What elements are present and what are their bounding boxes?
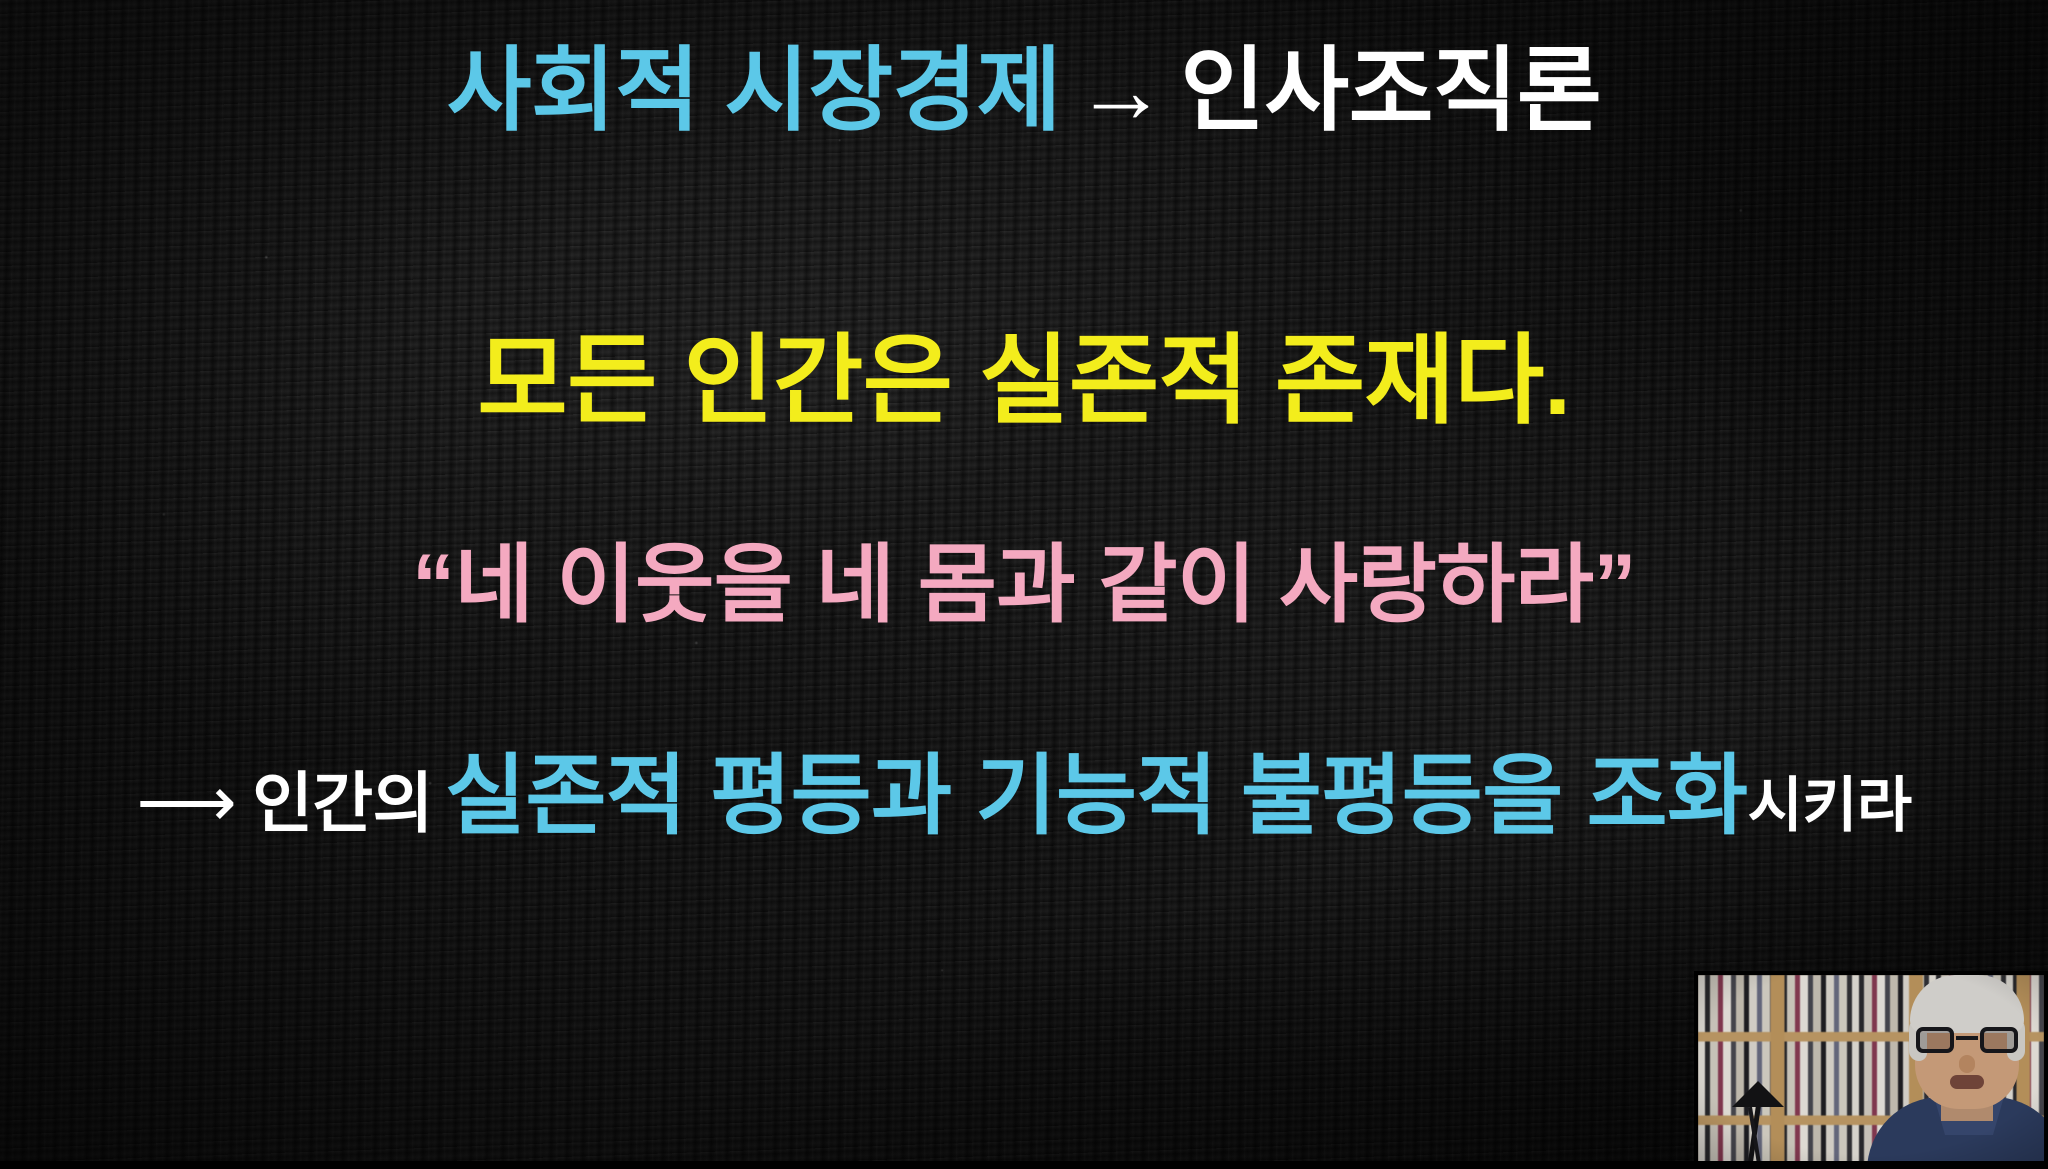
conclusion-line: ⟶인간의실존적 평등과 기능적 불평등을 조화시키라 [0,752,2048,840]
statement-line: 모든 인간은 실존적 존재다. [0,331,2048,429]
glasses-bridge [1956,1036,1978,1040]
webcam-frame [1698,975,2044,1165]
arrow-long-right-icon: ⟶ [136,767,252,837]
lecture-slide: 사회적 시장경제→인사조직론 모든 인간은 실존적 존재다. “네 이웃을 네 … [0,0,2048,1169]
player-bottom-band [0,1161,2048,1169]
presenter-figure [1869,997,2044,1165]
glasses-lens-right [1980,1027,2018,1053]
quote-line: “네 이웃을 네 몸과 같이 사랑하라” [0,542,2048,628]
presenter-mouth [1950,1075,1984,1089]
conclusion-suffix: 시키라 [1748,776,1912,836]
presenter-nose [1959,1055,1975,1073]
glasses-lens-left [1916,1027,1954,1053]
conclusion-emphasis: 실존적 평등과 기능적 불평등을 조화 [445,752,1748,840]
lamp-shade [1732,1081,1784,1107]
glasses-icon [1916,1027,2018,1055]
conclusion-prefix: 인간의 [252,770,445,836]
presenter-webcam-overlay[interactable] [1694,971,2048,1169]
desk-lamp-icon [1726,1081,1788,1163]
arrow-right-icon: → [1061,40,1181,142]
heading-source-term: 사회적 시장경제 [447,40,1061,142]
heading-line: 사회적 시장경제→인사조직론 [0,45,2048,137]
heading-target-term: 인사조직론 [1180,40,1601,142]
